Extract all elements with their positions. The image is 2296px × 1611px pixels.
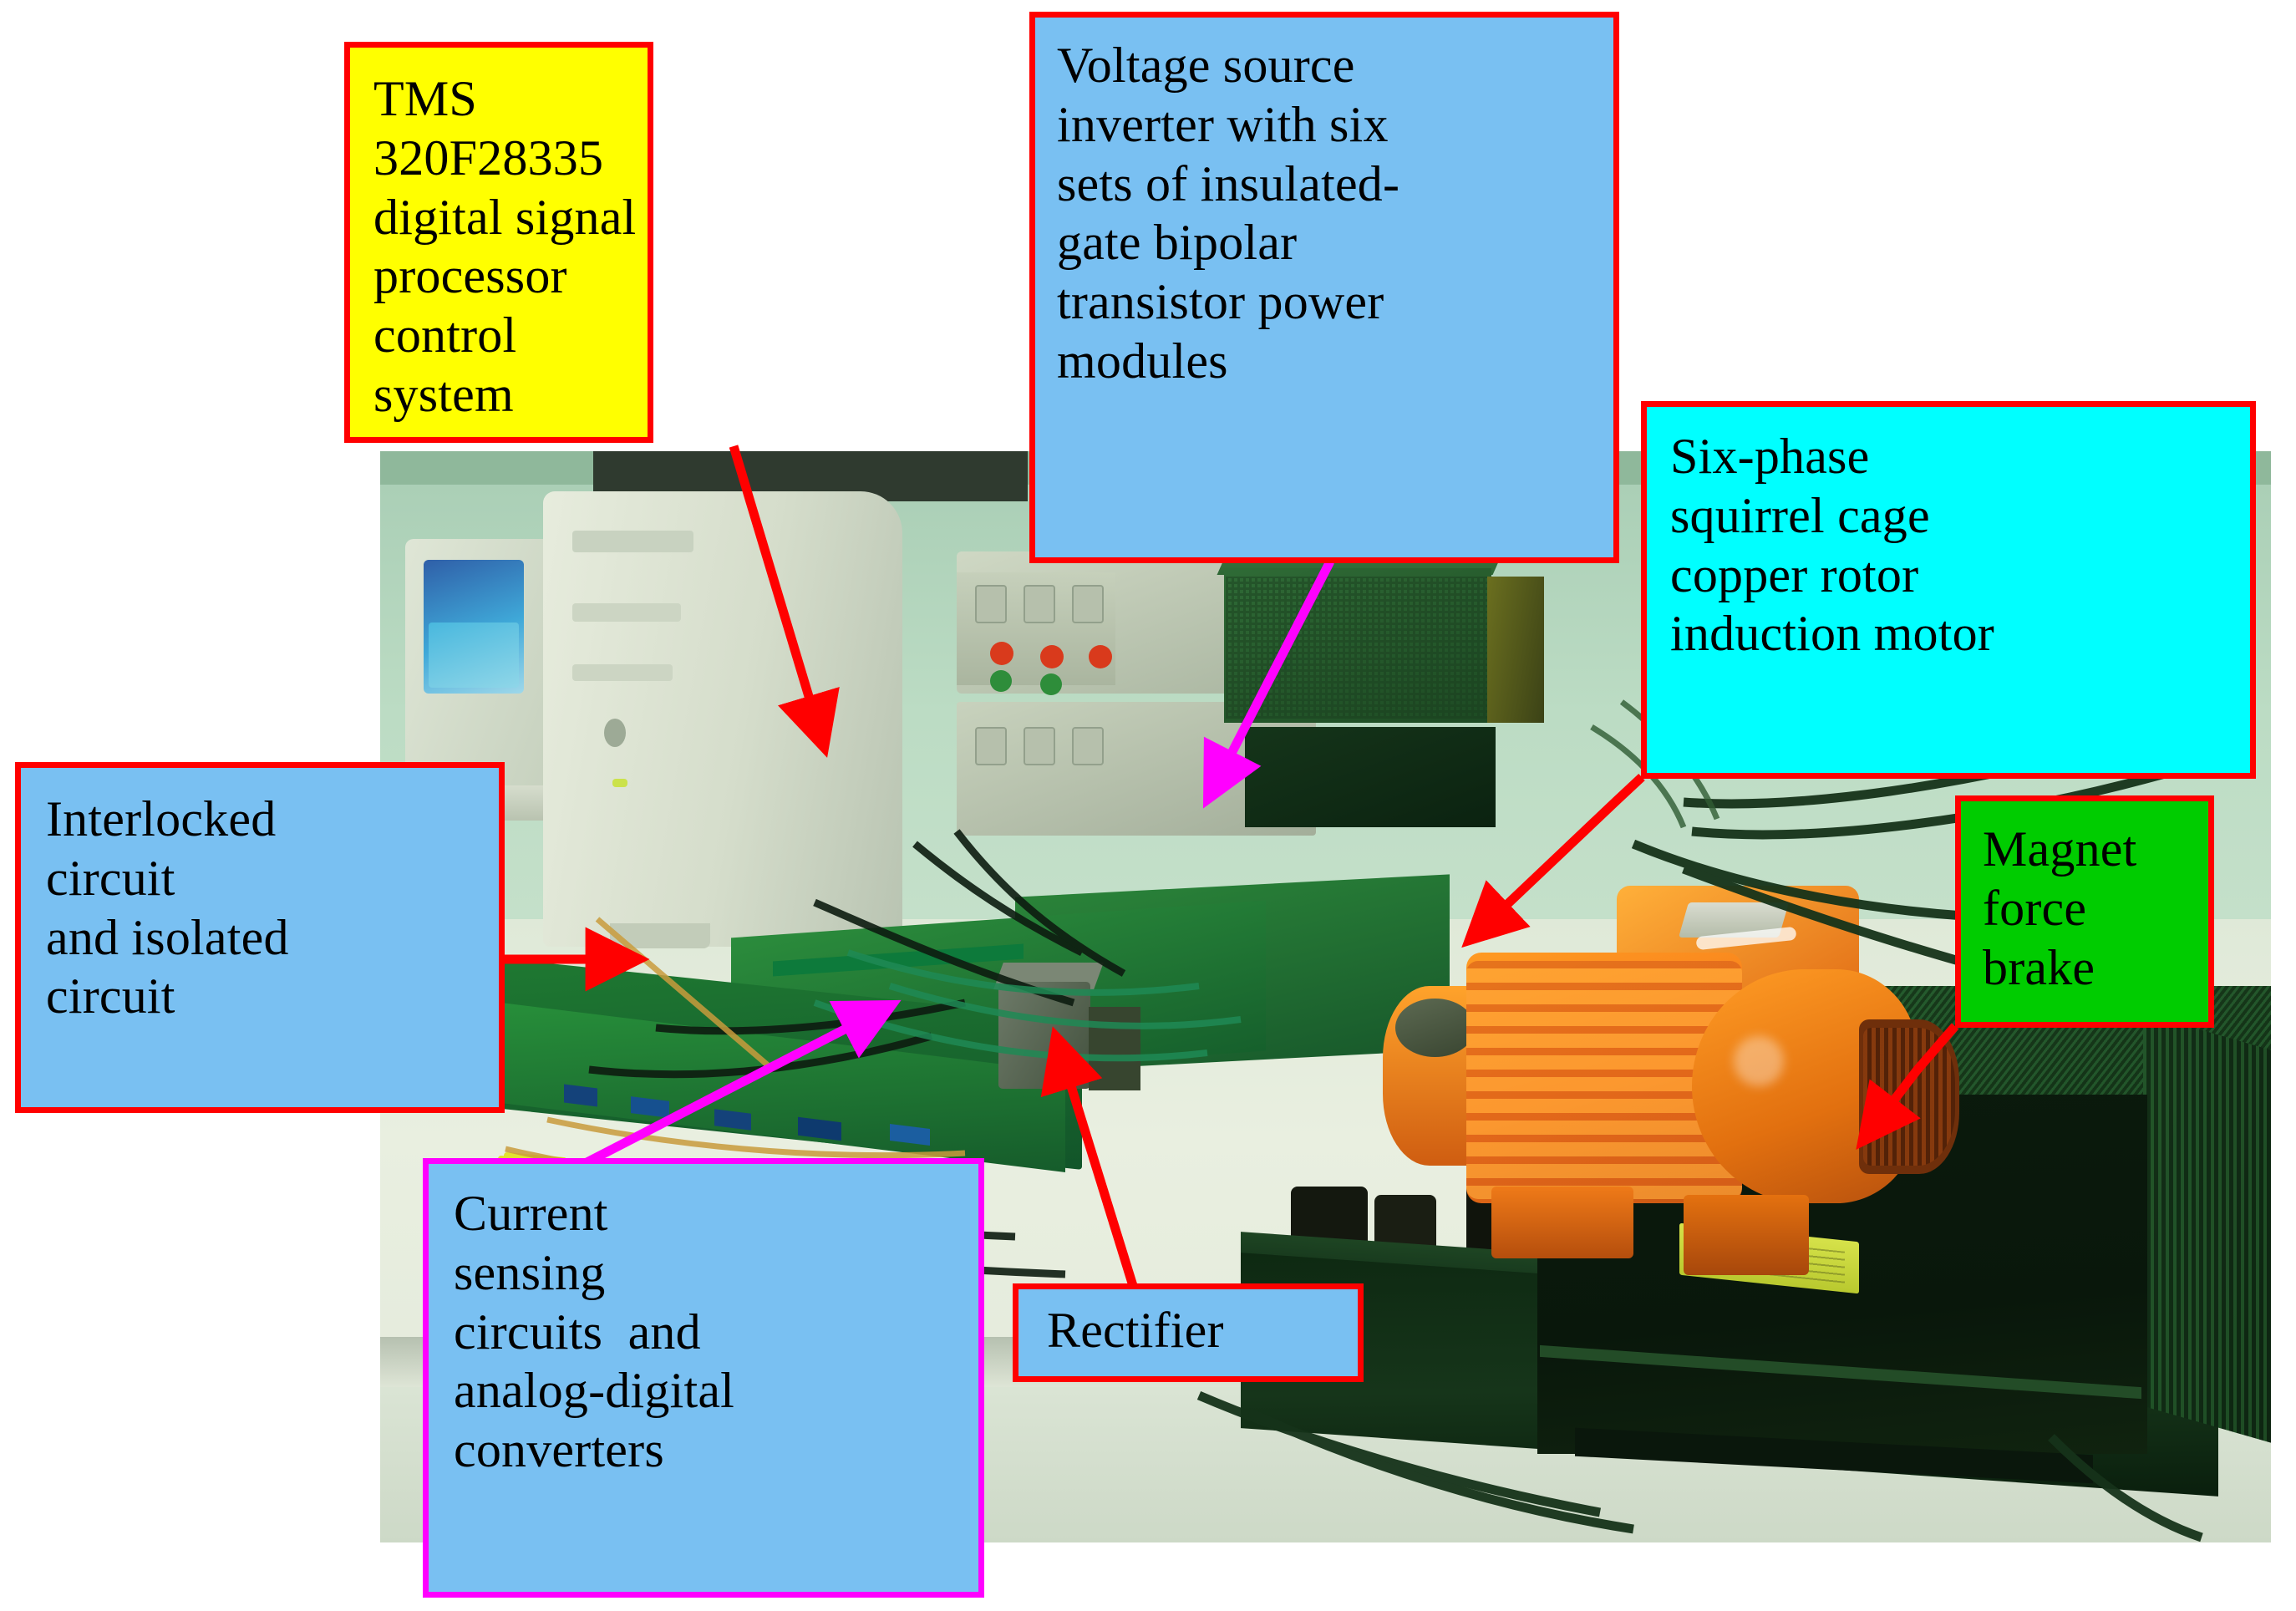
callout-current-sensing[interactable]: Current sensing circuits and analog-digi…	[423, 1158, 984, 1598]
callout-motor-line-4: induction motor	[1670, 604, 2250, 663]
callout-current-sensing-line-2: sensing	[454, 1243, 978, 1303]
callout-brake-line-1: Magnet	[1983, 820, 2208, 879]
callout-dsp-line-3: processor control	[373, 246, 648, 365]
callout-dsp-line-1: TMS 320F28335	[373, 69, 648, 188]
callout-dsp[interactable]: TMS 320F28335 digital signal processor c…	[344, 42, 653, 443]
callout-inverter-line-2: inverter with six	[1057, 95, 1613, 155]
callout-interlock-line-1: Interlocked	[46, 790, 499, 849]
callout-interlock-line-3: and isolated	[46, 908, 499, 968]
callout-rectifier[interactable]: Rectifier	[1013, 1283, 1364, 1382]
callout-interlock[interactable]: Interlocked circuit and isolated circuit	[15, 762, 505, 1113]
callout-inverter[interactable]: Voltage source inverter with six sets of…	[1029, 12, 1619, 563]
callout-inverter-line-1: Voltage source	[1057, 36, 1613, 95]
callout-motor-line-1: Six-phase	[1670, 427, 2250, 486]
callout-current-sensing-line-5: converters	[454, 1420, 978, 1480]
callout-interlock-line-2: circuit	[46, 849, 499, 908]
callout-inverter-line-5: transistor power	[1057, 272, 1613, 332]
callout-current-sensing-line-4: analog-digital	[454, 1361, 978, 1420]
callout-inverter-line-6: modules	[1057, 332, 1613, 391]
callout-inverter-line-3: sets of insulated-	[1057, 155, 1613, 214]
callout-brake-line-3: brake	[1983, 938, 2208, 998]
callout-current-sensing-line-1: Current	[454, 1184, 978, 1243]
callout-dsp-line-4: system	[373, 365, 648, 424]
callout-motor-line-2: squirrel cage	[1670, 486, 2250, 546]
callout-motor[interactable]: Six-phase squirrel cage copper rotor ind…	[1641, 401, 2256, 779]
callout-motor-line-3: copper rotor	[1670, 546, 2250, 605]
callout-brake-line-2: force	[1983, 879, 2208, 938]
callout-interlock-line-4: circuit	[46, 967, 499, 1026]
callout-rectifier-line-1: Rectifier	[1047, 1301, 1358, 1360]
callout-current-sensing-line-3: circuits and	[454, 1303, 978, 1362]
callout-dsp-line-2: digital signal	[373, 188, 648, 247]
callout-brake[interactable]: Magnet force brake	[1955, 795, 2214, 1028]
callout-inverter-line-4: gate bipolar	[1057, 213, 1613, 272]
